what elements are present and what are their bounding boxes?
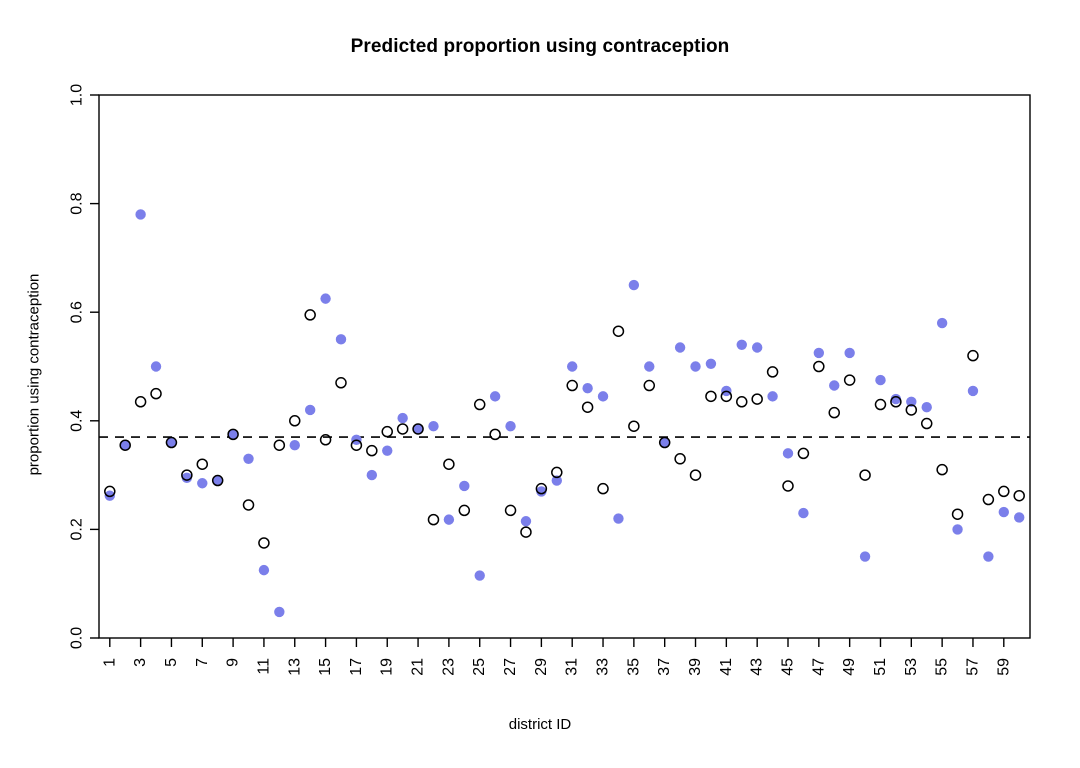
x-axis-tick-label: 47 <box>810 658 827 676</box>
x-axis-tick-label: 59 <box>995 658 1012 676</box>
data-point-observed[interactable] <box>320 434 332 446</box>
data-point-observed[interactable] <box>505 504 517 516</box>
data-point-observed[interactable] <box>767 366 779 378</box>
axes-layer <box>90 95 1030 647</box>
data-point-predicted[interactable] <box>705 358 717 370</box>
data-point-predicted[interactable] <box>628 279 640 291</box>
data-point-observed[interactable] <box>628 420 640 432</box>
scatter-plot-canvas: 0.00.20.40.60.81.01357911131517192123252… <box>0 0 1080 768</box>
x-axis-tick-label: 11 <box>255 658 272 675</box>
data-point-predicted[interactable] <box>844 347 856 359</box>
data-point-observed[interactable] <box>520 526 532 538</box>
x-axis-tick-label: 21 <box>410 658 427 676</box>
data-point-predicted[interactable] <box>320 293 332 305</box>
data-point-observed[interactable] <box>1013 490 1025 502</box>
data-point-observed[interactable] <box>936 464 948 476</box>
data-point-predicted[interactable] <box>366 469 378 481</box>
data-point-predicted[interactable] <box>566 361 578 373</box>
data-point-observed[interactable] <box>150 388 162 400</box>
x-axis-tick-label: 39 <box>687 658 704 676</box>
data-point-observed[interactable] <box>597 483 609 495</box>
data-point-predicted[interactable] <box>150 361 162 373</box>
data-point-predicted[interactable] <box>258 564 270 576</box>
data-point-observed[interactable] <box>659 437 671 449</box>
data-point-observed[interactable] <box>381 426 393 438</box>
data-point-predicted[interactable] <box>474 570 486 582</box>
x-axis-tick-label: 27 <box>502 658 519 676</box>
x-axis-tick-label: 43 <box>749 658 766 676</box>
data-point-predicted[interactable] <box>243 453 255 465</box>
x-axis-tick-label: 37 <box>656 658 673 676</box>
x-axis-tick-label: 9 <box>225 658 242 667</box>
y-axis-tick-label: 0.4 <box>69 410 86 432</box>
data-point-predicted[interactable] <box>505 420 517 432</box>
data-point-predicted[interactable] <box>859 551 871 563</box>
data-point-observed[interactable] <box>397 423 409 435</box>
x-axis-tick-label: 13 <box>286 658 303 676</box>
data-point-predicted[interactable] <box>952 523 964 535</box>
data-point-observed[interactable] <box>289 415 301 427</box>
x-axis-tick-label: 41 <box>718 658 735 676</box>
x-axis-tick-label: 45 <box>780 658 797 676</box>
data-point-predicted[interactable] <box>828 380 840 392</box>
data-point-predicted[interactable] <box>381 445 393 457</box>
data-point-observed[interactable] <box>566 380 578 392</box>
y-axis-tick-label: 0.2 <box>69 518 86 540</box>
data-point-observed[interactable] <box>643 380 655 392</box>
data-point-observed[interactable] <box>890 396 902 408</box>
data-point-observed[interactable] <box>952 508 964 520</box>
data-point-predicted[interactable] <box>998 506 1010 518</box>
data-points-layer <box>105 209 1025 617</box>
x-axis-tick-label: 57 <box>964 658 981 676</box>
x-axis-tick-label: 53 <box>903 658 920 676</box>
tick-labels-layer: 0.00.20.40.60.81.01357911131517192123252… <box>69 84 1013 676</box>
data-point-predicted[interactable] <box>967 385 979 397</box>
data-point-observed[interactable] <box>304 309 316 321</box>
data-point-predicted[interactable] <box>443 514 455 526</box>
x-axis-tick-label: 29 <box>533 658 550 676</box>
data-point-predicted[interactable] <box>921 401 933 413</box>
data-point-observed[interactable] <box>535 483 547 495</box>
data-point-observed[interactable] <box>212 475 224 487</box>
data-point-predicted[interactable] <box>813 347 825 359</box>
data-point-predicted[interactable] <box>643 361 655 373</box>
x-axis-tick-label: 35 <box>625 658 642 676</box>
data-point-predicted[interactable] <box>582 382 594 394</box>
data-point-observed[interactable] <box>982 494 994 506</box>
data-point-observed[interactable] <box>165 437 177 449</box>
data-point-observed[interactable] <box>690 469 702 481</box>
data-point-observed[interactable] <box>813 361 825 373</box>
x-axis-tick-label: 25 <box>471 658 488 676</box>
data-point-observed[interactable] <box>181 469 193 481</box>
data-point-observed[interactable] <box>582 401 594 413</box>
x-axis-tick-label: 55 <box>934 658 951 676</box>
data-point-observed[interactable] <box>135 396 147 408</box>
x-axis-tick-label: 33 <box>595 658 612 676</box>
data-point-predicted[interactable] <box>289 439 301 451</box>
data-point-predicted[interactable] <box>736 339 748 351</box>
data-point-predicted[interactable] <box>982 551 994 563</box>
x-axis-tick-label: 23 <box>440 658 457 676</box>
x-axis-tick-label: 5 <box>163 658 180 667</box>
data-point-observed[interactable] <box>736 396 748 408</box>
data-point-predicted[interactable] <box>612 513 624 525</box>
y-axis-tick-label: 1.0 <box>69 84 86 106</box>
x-axis-tick-label: 3 <box>132 658 149 667</box>
data-point-predicted[interactable] <box>767 390 779 402</box>
data-point-observed[interactable] <box>782 480 794 492</box>
data-point-observed[interactable] <box>674 453 686 465</box>
data-point-predicted[interactable] <box>690 361 702 373</box>
x-axis-tick-label: 7 <box>194 658 211 667</box>
y-axis-tick-label: 0.6 <box>69 301 86 323</box>
data-point-observed[interactable] <box>366 445 378 457</box>
data-point-observed[interactable] <box>412 423 424 435</box>
y-axis-tick-label: 0.8 <box>69 192 86 214</box>
data-point-observed[interactable] <box>474 399 486 411</box>
x-axis-tick-label: 31 <box>564 658 581 676</box>
data-point-predicted[interactable] <box>304 404 316 416</box>
x-axis-tick-label: 19 <box>379 658 396 676</box>
plot-frame <box>99 95 1030 638</box>
x-axis-tick-label: 49 <box>841 658 858 676</box>
data-point-predicted[interactable] <box>135 208 147 220</box>
y-axis-tick-label: 0.0 <box>69 627 86 649</box>
data-point-observed[interactable] <box>258 537 270 549</box>
x-axis-tick-label: 15 <box>317 658 334 676</box>
x-axis-tick-label: 51 <box>872 658 889 676</box>
data-point-observed[interactable] <box>335 377 347 389</box>
data-point-observed[interactable] <box>844 374 856 386</box>
data-point-observed[interactable] <box>828 407 840 419</box>
data-point-observed[interactable] <box>874 399 886 411</box>
data-point-observed[interactable] <box>921 418 933 430</box>
x-axis-tick-label: 17 <box>348 658 365 676</box>
data-point-observed[interactable] <box>967 350 979 362</box>
data-point-observed[interactable] <box>243 499 255 511</box>
x-axis-tick-label: 1 <box>101 658 118 667</box>
chart-root: Predicted proportion using contraception… <box>0 0 1080 768</box>
